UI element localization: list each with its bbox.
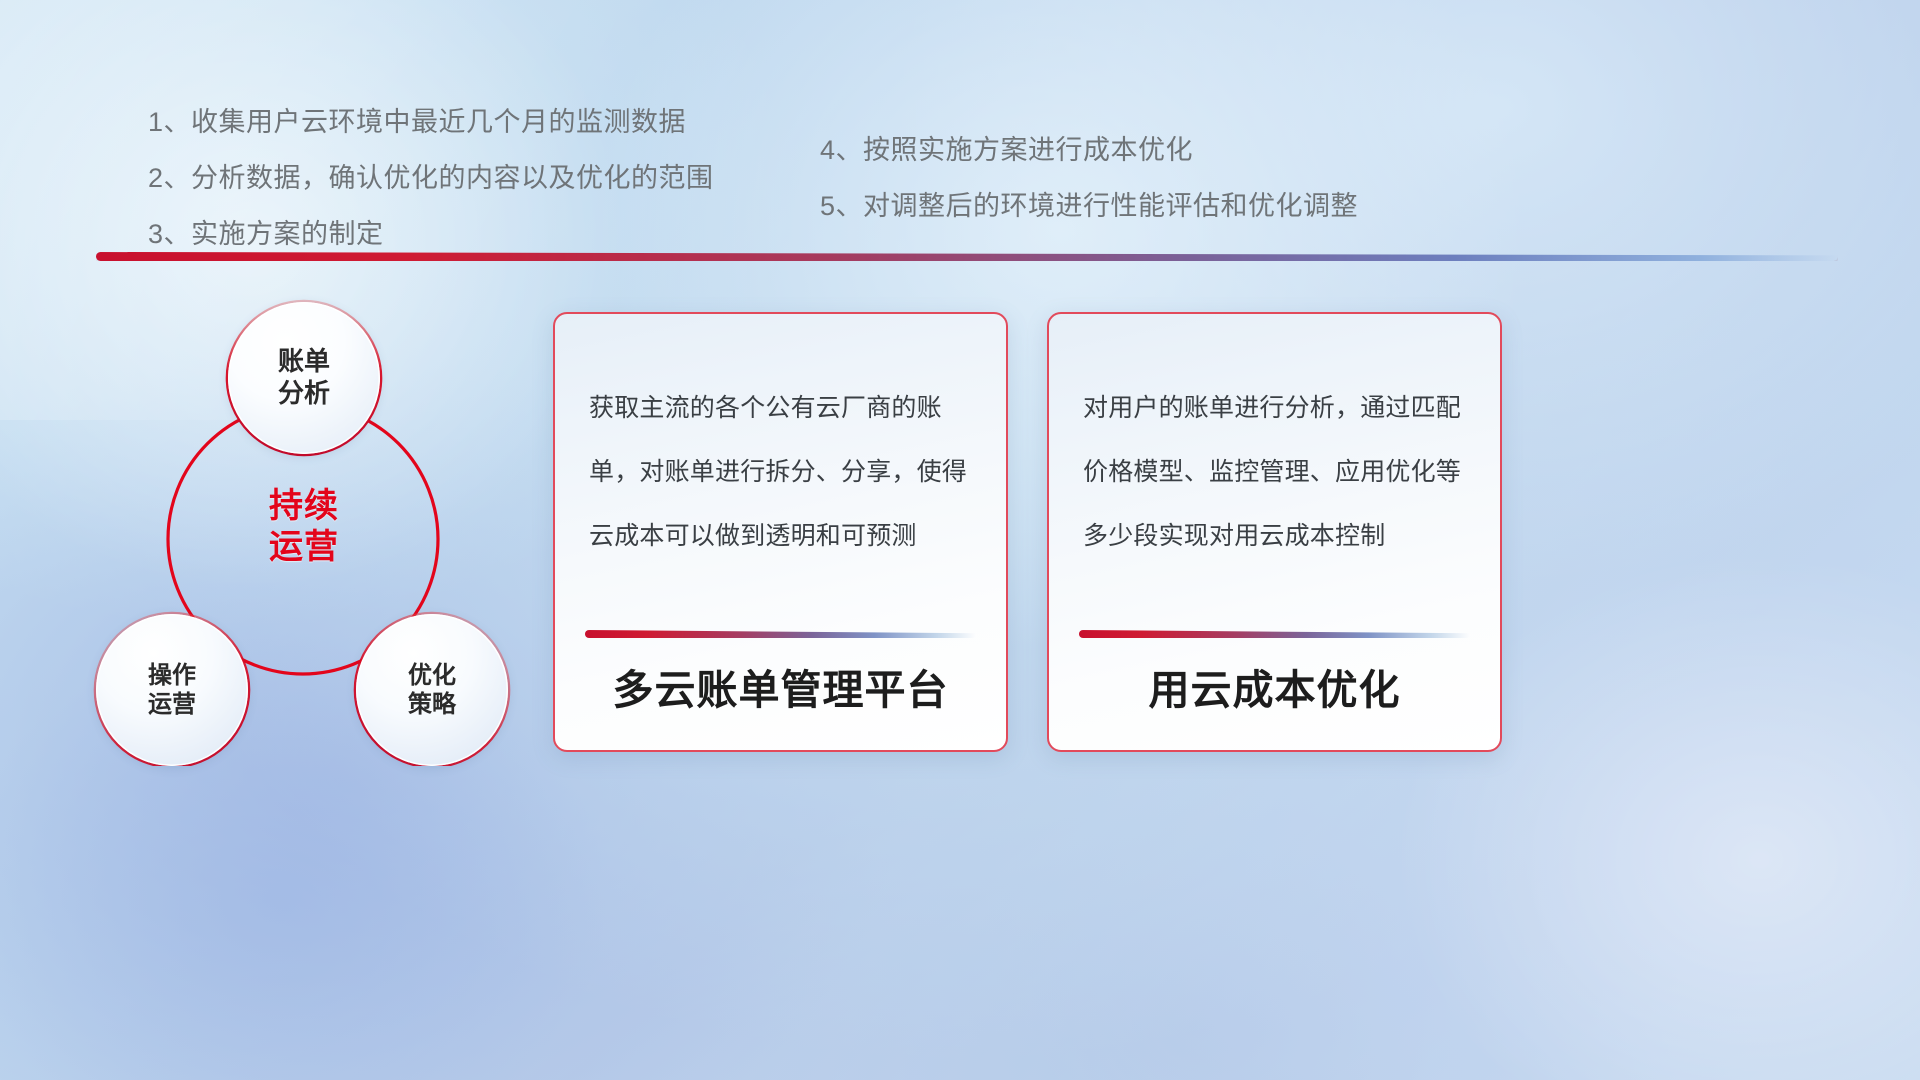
card-2-title: 用云成本优化 (1049, 656, 1500, 716)
card-multi-cloud-billing-platform[interactable]: 获取主流的各个公有云厂商的账单，对账单进行拆分、分享，使得云成本可以做到透明和可… (553, 312, 1008, 752)
venn-bubble-bl-line1: 操作 (148, 661, 196, 690)
venn-bubble-bl-line2: 运营 (148, 690, 196, 719)
card-1-red-rule (585, 630, 976, 638)
step-item-5: 5、对调整后的环境进行性能评估和优化调整 (820, 178, 1540, 234)
venn-bubble-br-line1: 优化 (408, 661, 456, 690)
card-1-body: 获取主流的各个公有云厂商的账单，对账单进行拆分、分享，使得云成本可以做到透明和可… (555, 314, 1006, 568)
venn-bubble-optimization-strategy: 优化 策略 (356, 614, 508, 766)
steps-list-left: 1、收集用户云环境中最近几个月的监测数据 2、分析数据，确认优化的内容以及优化的… (148, 94, 848, 262)
step-item-4: 4、按照实施方案进行成本优化 (820, 122, 1540, 178)
step-item-2: 2、分析数据，确认优化的内容以及优化的范围 (148, 150, 848, 206)
venn-center-line2: 运营 (218, 527, 390, 568)
venn-center-label: 持续 运营 (218, 486, 390, 568)
venn-bubble-top-line1: 账单 (278, 346, 330, 378)
card-2-body: 对用户的账单进行分析，通过匹配价格模型、监控管理、应用优化等多少段实现对用云成本… (1049, 314, 1500, 568)
venn-bubble-br-line2: 策略 (408, 690, 456, 719)
venn-bubble-billing-analysis: 账单 分析 (228, 302, 380, 454)
card-2-red-rule (1079, 630, 1470, 638)
card-cloud-cost-optimization[interactable]: 对用户的账单进行分析，通过匹配价格模型、监控管理、应用优化等多少段实现对用云成本… (1047, 312, 1502, 752)
card-1-title: 多云账单管理平台 (555, 656, 1006, 716)
steps-list-right: 4、按照实施方案进行成本优化 5、对调整后的环境进行性能评估和优化调整 (820, 122, 1540, 234)
venn-center-line1: 持续 (218, 486, 390, 527)
venn-bubble-operations: 操作 运营 (96, 614, 248, 766)
step-item-1: 1、收集用户云环境中最近几个月的监测数据 (148, 94, 848, 150)
venn-diagram: 账单 分析 操作 运营 优化 策略 持续 运营 (90, 296, 520, 766)
venn-bubble-top-line2: 分析 (278, 378, 330, 410)
